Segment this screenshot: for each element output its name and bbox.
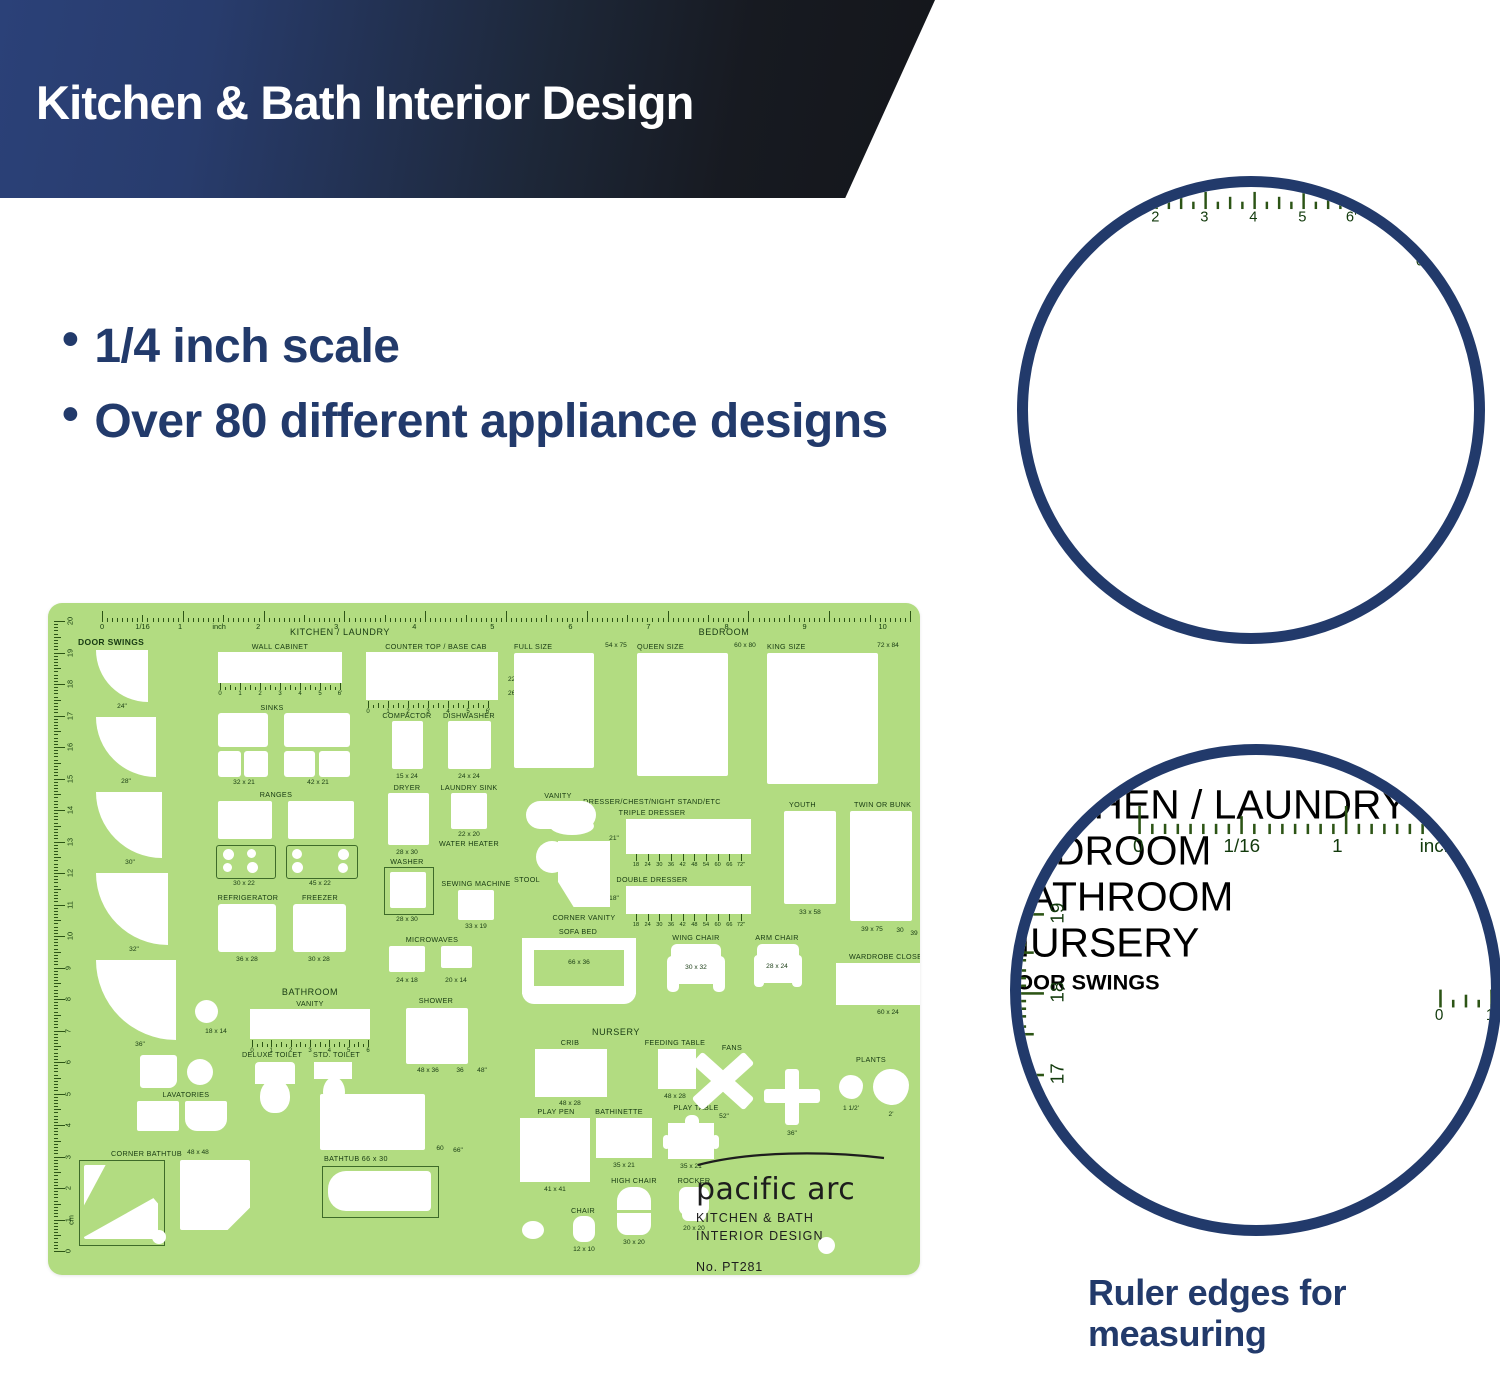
dresser-scale-label: 24	[645, 922, 651, 928]
arm-chair-size: 28 x 24	[766, 963, 788, 970]
ruler-tick-label: 13	[66, 837, 75, 845]
dresser-scale-label: 42	[680, 922, 686, 928]
feature-bullet-item: • Over 80 different appliance designs	[62, 391, 962, 452]
wall-cabinet-scale	[1057, 189, 1351, 209]
ruler-tick-label: 14	[66, 806, 75, 814]
fan-plus-blade	[785, 1069, 799, 1125]
dishwasher-cutout	[448, 721, 491, 769]
plant-cutout-large	[873, 1069, 909, 1105]
brand-subtitle-line1: KITCHEN & BATH	[696, 1210, 886, 1228]
scale-tick-label: 4	[298, 691, 301, 697]
counter-top-scale	[1420, 234, 1485, 254]
callout-kitchen-laundry-zoom: 01/161inch2345678910 2019181716151413121…	[1017, 176, 1485, 644]
bed-size-king: 72 x 84	[877, 642, 899, 649]
sink-cutout	[218, 713, 268, 747]
corner-bathtub-size: 48 x 48	[187, 1149, 209, 1156]
catalog-number: No. PT281	[696, 1260, 886, 1274]
door-swing-size: 32"	[129, 946, 139, 953]
dresser-scale-label: 60	[715, 922, 721, 928]
ruler-tick-label: 16	[66, 743, 75, 751]
plants-label: PLANTS	[856, 1055, 886, 1064]
scale-tick-label: 4	[1249, 212, 1257, 227]
dresser-scale-label: 66	[726, 922, 732, 928]
wall-cabinet-cutout	[218, 652, 342, 683]
plant-size: 2'	[889, 1111, 894, 1118]
burner-circle	[292, 862, 303, 873]
play-table-leg	[712, 1135, 719, 1149]
bathinette-label: BATHINETTE	[595, 1107, 643, 1116]
sewing-machine-cutout	[458, 890, 494, 920]
door-swings-label: DOOR SWINGS	[1010, 969, 1485, 995]
crib-cutout	[535, 1049, 607, 1097]
section-title-bathroom: BATHROOM	[282, 987, 338, 997]
vanity-scale	[252, 1039, 368, 1047]
range-cutout	[218, 801, 272, 839]
ruler-tick-label: 19	[1046, 901, 1069, 922]
microwaves-label: MICROWAVES	[406, 935, 459, 944]
triple-dresser-label: TRIPLE DRESSER	[619, 808, 686, 817]
sink-size: 42 x 21	[307, 779, 329, 786]
fans-label: FANS	[722, 1043, 742, 1052]
sewing-machine-label: SEWING MACHINE	[441, 879, 510, 888]
dresser-scale	[636, 854, 741, 861]
triple-dresser-depth: 21"	[609, 835, 619, 842]
scale-tick-label: 5	[318, 691, 321, 697]
fan-size: 52"	[719, 1113, 729, 1120]
deluxe-toilet-label: DELUXE TOILET	[242, 1050, 302, 1059]
ruler-tick-label: 6	[568, 622, 572, 631]
dresser-scale-label: 48	[691, 862, 697, 868]
dresser-scale-label: 30	[656, 862, 662, 868]
bed-label-youth: YOUTH	[789, 800, 816, 809]
top-ruler	[102, 609, 910, 622]
dresser-scale-label: 60	[715, 862, 721, 868]
feature-text: 1/4 inch scale	[94, 316, 962, 377]
left-ruler	[1016, 832, 1049, 1237]
sink-cutout	[218, 751, 241, 777]
door-swing-shape	[96, 873, 168, 945]
drafting-template-product: 01/161inch2345678910 2019181716151413121…	[48, 603, 920, 1275]
chair-cutout	[573, 1216, 595, 1242]
crib-label: CRIB	[561, 1038, 580, 1047]
burner-circle	[223, 863, 232, 872]
ruler-tick-label: 17	[1046, 1062, 1069, 1083]
play-pen-cutout	[520, 1118, 590, 1182]
wardrobe-closet-label: WARDROBE CLOSET	[849, 952, 920, 961]
scale-tick-label: 1	[238, 691, 241, 697]
sink-cutout	[284, 751, 315, 777]
compactor-size: 15 x 24	[396, 773, 418, 780]
bathroom-vanity-cutout	[250, 1009, 370, 1039]
high-chair-size: 30 x 20	[623, 1239, 645, 1246]
dresser-scale-label: 30	[656, 922, 662, 928]
play-pen-label: PLAY PEN	[537, 1107, 574, 1116]
callout-ruler-edge-zoom: 01/161inch2345678910 2019181716151413121…	[1010, 744, 1500, 1236]
section-title-bedroom: BEDROOM	[699, 627, 750, 637]
dresser-scale-label: 36	[668, 922, 674, 928]
ruler-tick-label: 17	[66, 711, 75, 719]
door-swing-size: 28"	[1017, 515, 1102, 559]
shower-size: 48 x 36	[417, 1067, 439, 1074]
wardrobe-closet-size: 60 x 24	[877, 1009, 899, 1016]
ruler-tick-label: 16	[1046, 1142, 1069, 1163]
lavatories-label: LAVATORIES	[163, 1090, 210, 1099]
pacific-arc-swoosh-icon	[696, 1151, 886, 1167]
scale-tick-label: 6'	[338, 691, 342, 697]
scale-tick-label: 5	[1298, 212, 1306, 227]
microwave-cutout	[389, 946, 425, 972]
door-swing-size: 30"	[125, 859, 135, 866]
std-toilet-label: STD. TOILET	[313, 1050, 360, 1059]
dresser-scale	[636, 914, 741, 921]
play-table-leg	[663, 1135, 670, 1149]
bed-label-full: FULL SIZE	[514, 642, 552, 651]
ruler-tick-label: inch	[1420, 834, 1455, 857]
lavatory-cutout	[185, 1101, 227, 1131]
ruler-tick-label: 18	[1046, 982, 1069, 1003]
laundry-sink-label: LAUNDRY SINK	[440, 783, 497, 792]
feeding-table-cutout	[658, 1049, 696, 1089]
burner-circle	[223, 849, 234, 860]
ruler-tick-label: 2	[256, 622, 260, 631]
top-ruler	[1138, 801, 1500, 834]
header-banner: Kitchen & Bath Interior Design	[0, 0, 935, 198]
mounting-hole	[818, 1237, 835, 1254]
wall-cabinet-scale	[1439, 987, 1500, 1007]
refrigerator-cutout	[218, 904, 276, 952]
range-cutout	[288, 801, 354, 839]
compactor-label: COMPACTOR	[382, 711, 431, 720]
microwave-size: 24 x 18	[396, 977, 418, 984]
brand-logo: pacific arc KITCHEN & BATH INTERIOR DESI…	[696, 1151, 886, 1274]
bed-label-king: KING SIZE	[767, 642, 806, 651]
bathtub-mark: 66"	[453, 1147, 463, 1154]
door-swing-size: 36"	[135, 1041, 145, 1048]
brand-subtitle-line2: INTERIOR DESIGN	[696, 1228, 886, 1246]
bed-mark-twin: 39	[910, 930, 917, 937]
washer-cutout	[390, 872, 426, 908]
bed-size-queen: 60 x 80	[734, 642, 756, 649]
bathinette-size: 35 x 21	[613, 1162, 635, 1169]
bullet-dot-icon: •	[62, 316, 78, 364]
lavatory-size: 18 x 14	[205, 1028, 227, 1035]
plant-cutout-small	[839, 1075, 863, 1099]
scale-tick-label: 6	[366, 1048, 369, 1054]
lavatory-cutout	[140, 1055, 177, 1088]
ruler-tick-label: 2	[64, 1186, 73, 1190]
callout-caption: Ruler edges for measuring	[1088, 1272, 1468, 1355]
laundry-sink-cutout	[451, 793, 487, 829]
deluxe-toilet-bowl-cutout	[260, 1079, 290, 1113]
ruler-tick-label: 9	[64, 965, 73, 969]
dryer-size: 28 x 30	[396, 849, 418, 856]
section-title-nursery: NURSERY	[1010, 923, 1485, 969]
bed-cutout-king	[767, 653, 878, 784]
dresser-scale-label: 54	[703, 862, 709, 868]
feature-text: Over 80 different appliance designs	[94, 391, 962, 452]
crib-size: 48 x 28	[559, 1100, 581, 1107]
ruler-tick-label: 11	[65, 901, 74, 909]
section-title-kitchen: KITCHEN / LAUNDRY	[290, 627, 390, 637]
section-title-nursery: NURSERY	[592, 1027, 640, 1037]
bathtub-label: BATHTUB 66 x 30	[324, 1154, 388, 1163]
sewing-machine-size: 33 x 19	[465, 923, 487, 930]
door-swing-size: 28"	[121, 778, 131, 785]
burner-circle	[247, 862, 258, 873]
ruler-tick-label: 4	[412, 622, 416, 631]
water-heater-size: 28 x 30	[396, 916, 418, 923]
counter-top-scale	[368, 700, 488, 708]
washer-label: WASHER	[390, 857, 423, 866]
dresser-scale-label: 18	[633, 862, 639, 868]
bed-label-queen: QUEEN SIZE	[637, 642, 684, 651]
bathtub-cutout	[328, 1171, 431, 1211]
counter-top-cutout	[366, 652, 498, 700]
arm-chair-arm	[792, 955, 802, 987]
dresser-scale-label: 24	[645, 862, 651, 868]
ruler-tick-label: 4	[64, 1123, 73, 1127]
burner-circle	[292, 849, 302, 859]
ruler-tick-label: 15	[66, 774, 75, 782]
scale-tick-label: 0	[366, 709, 369, 715]
ruler-tick-label: 15	[1046, 1223, 1069, 1236]
freezer-label: FREEZER	[302, 893, 338, 902]
burner-circle	[247, 849, 256, 858]
scale-tick-label: 0	[1053, 212, 1061, 227]
dishwasher-size: 24 x 24	[458, 773, 480, 780]
dresser-scale-label: 72"	[737, 862, 745, 868]
dryer-label: DRYER	[394, 783, 421, 792]
chair-size: 12 x 10	[573, 1246, 595, 1253]
scale-tick-label: 0	[218, 691, 221, 697]
sofa-bed-label: SOFA BED	[559, 927, 597, 936]
high-chair-label: HIGH CHAIR	[611, 1176, 657, 1185]
feeding-table-size: 48 x 28	[664, 1093, 686, 1100]
small-circle-cutout	[522, 1221, 544, 1239]
bed-size-twin: 39 x 75	[861, 926, 883, 933]
wing-chair-arm	[667, 956, 679, 992]
bathinette-cutout	[596, 1118, 652, 1158]
wing-chair-size: 30 x 32	[685, 964, 707, 971]
scale-tick-label: 1	[1465, 256, 1473, 271]
corner-bathtub-label: CORNER BATHTUB	[111, 1149, 182, 1158]
arm-chair-arm	[754, 955, 764, 987]
section-title-bathroom: BATHROOM	[1010, 877, 1485, 923]
door-swings-label: DOOR SWINGS	[78, 637, 144, 647]
feeding-table-label: FEEDING TABLE	[645, 1038, 706, 1047]
scale-tick-label: 0	[1435, 1010, 1444, 1025]
bed-mark-twin: 30	[896, 927, 903, 934]
microwave-cutout	[441, 946, 472, 968]
double-dresser-label: DOUBLE DRESSER	[616, 875, 687, 884]
ruler-tick-label: 5	[490, 622, 494, 631]
bed-cutout-queen	[637, 653, 728, 776]
scale-tick-label: 3	[278, 691, 281, 697]
door-swing-size: 24"	[1017, 324, 1102, 368]
fan-size: 36"	[787, 1130, 797, 1137]
dryer-cutout	[388, 793, 429, 845]
ruler-tick-label: 20	[1046, 821, 1069, 842]
range-size: 30 x 22	[233, 880, 255, 887]
ruler-tick-label: 1/16	[1223, 834, 1260, 857]
dresser-header-label: DRESSER/CHEST/NIGHT STAND/ETC	[583, 797, 721, 806]
dresser-scale-label: 54	[703, 922, 709, 928]
burner-circle	[338, 863, 348, 873]
drafting-template-product: 01/161inch2345678910 2019181716151413121…	[1010, 786, 1485, 1236]
ruler-tick-label: inch	[212, 622, 226, 631]
sink-cutout	[319, 751, 350, 777]
ruler-tick-label: 12	[66, 869, 75, 877]
shower-cutout	[406, 1008, 468, 1064]
door-swing-size: 24"	[117, 703, 127, 710]
sofa-bed-size: 66 x 36	[568, 959, 590, 966]
wall-cabinet-label: WALL CABINET	[252, 642, 308, 651]
compactor-cutout	[392, 721, 423, 769]
scale-tick-label: 2	[1151, 212, 1159, 227]
scale-tick-label: 1	[1102, 212, 1110, 227]
sinks-label: SINKS	[260, 703, 283, 712]
dresser-scale-label: 72"	[737, 922, 745, 928]
dresser-scale-label: 18	[633, 922, 639, 928]
scale-tick-label: 2	[258, 691, 261, 697]
dresser-scale-label: 36	[668, 862, 674, 868]
wardrobe-closet-cutout	[836, 963, 920, 1005]
shower-label: SHOWER	[419, 996, 453, 1005]
ruler-tick-label: 7	[646, 622, 650, 631]
play-pen-size: 41 x 41	[544, 1186, 566, 1193]
ruler-tick-label: 0	[100, 622, 104, 631]
bed-label-twin: TWIN OR BUNK	[854, 800, 911, 809]
refrigerator-size: 36 x 28	[236, 956, 258, 963]
dishwasher-label: DISHWASHER	[443, 711, 495, 720]
freezer-size: 30 x 28	[308, 956, 330, 963]
bullet-dot-icon: •	[62, 391, 78, 439]
shower-pan-cutout	[320, 1094, 425, 1150]
ruler-unit-label: cm	[66, 1215, 75, 1225]
dresser-scale-label: 48	[691, 922, 697, 928]
ruler-tick-label: 19	[66, 648, 75, 656]
ruler-tick-label: 9	[803, 622, 807, 631]
corner-shower-cutout	[180, 1160, 250, 1230]
double-dresser-cutout	[626, 886, 751, 914]
vanity-cutout-lobe	[550, 817, 594, 835]
shower-mark: 36	[456, 1067, 463, 1074]
ruler-tick-label: 1	[1332, 834, 1343, 857]
dresser-scale-label: 66	[726, 862, 732, 868]
door-swing-shape	[96, 792, 162, 858]
burner-circle	[338, 849, 349, 860]
bed-size-full: 54 x 75	[605, 642, 627, 649]
ruler-tick-label: 18	[66, 680, 75, 688]
feature-bullet-item: • 1/4 inch scale	[62, 316, 962, 377]
ruler-tick-label: 20	[66, 617, 75, 625]
microwave-size: 20 x 14	[445, 977, 467, 984]
lavatory-circle-cutout	[195, 1000, 218, 1023]
ruler-tick-label: 3	[64, 1154, 73, 1158]
drain-circle-cutout	[152, 1230, 166, 1244]
freezer-cutout	[293, 904, 346, 952]
door-swing-shape	[96, 650, 148, 702]
ruler-tick-label: 1	[178, 622, 182, 631]
door-swing-shape	[96, 717, 156, 777]
ruler-tick-label: 1/16	[135, 622, 149, 631]
brand-subtitle: KITCHEN & BATH INTERIOR DESIGN	[696, 1210, 886, 1246]
ruler-tick-label: 6	[64, 1060, 73, 1064]
corner-vanity-label: CORNER VANITY	[552, 913, 615, 922]
range-size: 45 x 22	[309, 880, 331, 887]
chair-label: CHAIR	[571, 1206, 595, 1215]
scale-tick-label: 3	[1200, 212, 1208, 227]
high-chair-tray	[617, 1213, 651, 1235]
drafting-template-product: 01/161inch2345678910 2019181716151413121…	[1017, 176, 1102, 644]
brand-name: pacific arc	[696, 1172, 886, 1207]
scale-tick-label: 6'	[1346, 212, 1357, 227]
ruler-tick-label: 8	[64, 997, 73, 1001]
wing-chair-label: WING CHAIR	[672, 933, 719, 942]
bed-cutout-youth	[784, 811, 836, 904]
dresser-scale-label: 42	[680, 862, 686, 868]
bathroom-vanity-label: VANITY	[296, 999, 324, 1008]
ruler-tick-label: 10	[879, 622, 887, 631]
refrigerator-label: REFRIGERATOR	[218, 893, 279, 902]
bed-cutout-full	[514, 653, 594, 768]
wall-cabinet-scale	[220, 682, 340, 690]
lavatory-cutout	[137, 1101, 179, 1131]
triple-dresser-cutout	[626, 819, 751, 854]
page-title: Kitchen & Bath Interior Design	[36, 75, 694, 130]
high-chair-cutout	[617, 1187, 651, 1210]
sofa-bed-inner-mask	[534, 950, 624, 986]
scale-tick-label: 3	[308, 1048, 311, 1054]
double-dresser-depth: 18"	[609, 895, 619, 902]
ranges-label: RANGES	[260, 790, 292, 799]
door-swing-size: 24"	[1010, 1127, 1485, 1173]
counter-top-label: COUNTER TOP / BASE CAB	[385, 642, 487, 651]
door-swing-shape	[96, 960, 176, 1040]
scale-tick-label: 1	[1486, 1010, 1495, 1025]
bed-cutout-twin	[850, 811, 912, 921]
wing-chair-arm	[713, 956, 725, 992]
water-heater-label: WATER HEATER	[439, 839, 499, 848]
ruler-tick-label: 7	[64, 1028, 73, 1032]
scale-tick-label: 0	[1416, 256, 1424, 271]
feature-bullet-list: • 1/4 inch scale • Over 80 different app…	[62, 316, 962, 467]
ruler-tick-label: 5	[64, 1091, 73, 1095]
bed-size-youth: 33 x 58	[799, 909, 821, 916]
shower-mark: 48"	[477, 1067, 487, 1074]
sink-size: 32 x 21	[233, 779, 255, 786]
ruler-tick-label: 0	[64, 1249, 73, 1253]
stool-label: STOOL	[514, 875, 540, 884]
laundry-sink-size: 22 x 20	[458, 831, 480, 838]
sink-cutout	[284, 713, 350, 747]
sofa-bed-skirt	[522, 992, 636, 1004]
corner-vanity-cutout	[558, 841, 610, 907]
lavatory-circle-cutout	[187, 1059, 213, 1085]
arm-chair-label: ARM CHAIR	[755, 933, 798, 942]
vanity-label: VANITY	[544, 791, 572, 800]
plant-size: 1 1/2'	[843, 1105, 859, 1112]
bathtub-mark: 60	[436, 1145, 443, 1152]
ruler-tick-label: 10	[66, 932, 75, 940]
sink-cutout	[244, 751, 268, 777]
ruler-tick-label: 0	[1133, 834, 1144, 857]
